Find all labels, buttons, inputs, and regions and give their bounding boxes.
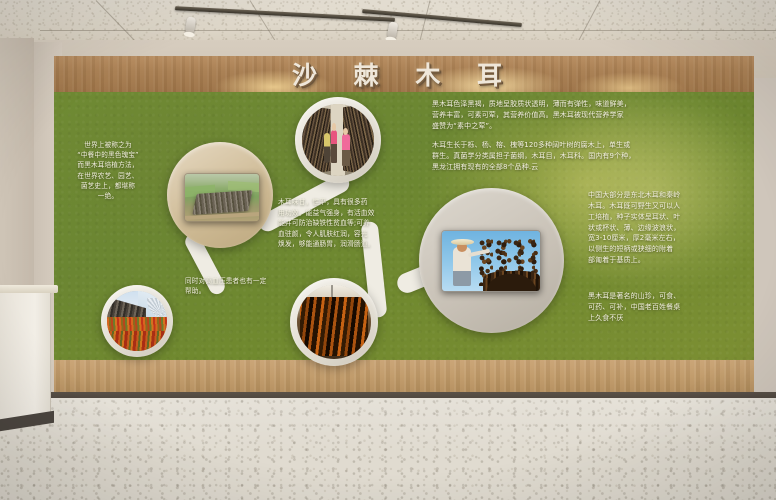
photo-frame-mushroom-house[interactable] xyxy=(295,97,381,183)
mushroom-house-image xyxy=(302,104,374,176)
photo-frame-wood-ear-logs[interactable] xyxy=(290,278,378,366)
text-block-left: 世界上被称之为 “中餐中的黑色瑰宝” 而黑木耳培植方法， 在世界农艺、园艺、 菌… xyxy=(60,140,156,201)
text-block-middle: 木耳味甘，性平，具有很多药 用功效。能益气强身，有活血效 能并可防治缺铁性贫血等… xyxy=(278,197,400,250)
text-block-bottom: 黑木耳是著名的山珍，可食、 可药、可补，中国老百姓餐桌 上久食不厌 xyxy=(588,291,716,324)
photo-farmer-harvest xyxy=(441,230,541,292)
text-block-top-secondary: 木耳生长于栎、杨、榕、槐等120多种阔叶树的腐木上，单生或 群生。真菌学分类属担… xyxy=(432,140,710,173)
floor xyxy=(0,398,776,500)
photo-mushroom-house xyxy=(302,104,374,176)
text-block-top-primary: 黑木耳色泽黑褐，质地呈胶质状透明，薄而有弹性，味道鲜美， 营养丰富，可素可荤，其… xyxy=(432,99,710,132)
photo-wood-ear-logs xyxy=(297,285,371,359)
text-block-right: 中国大部分是东北木耳和秦岭 木耳。木耳既可野生又可以人 工培植，种子实体呈耳状、… xyxy=(588,190,710,266)
photo-frame-farmer-harvest[interactable] xyxy=(419,188,564,333)
wall-wood-wainscot xyxy=(54,360,754,396)
wood-ear-logs-image xyxy=(297,285,371,359)
photo-frame-aerial-farm[interactable] xyxy=(167,142,273,248)
photo-frame-berry-field[interactable] xyxy=(101,285,173,357)
aerial-farm-image xyxy=(185,174,259,221)
text-block-helper: 同时对高血压患者也有一定 帮助。 xyxy=(185,276,285,296)
photo-aerial-farm xyxy=(184,173,260,222)
reception-counter xyxy=(0,291,51,421)
photo-berry-field xyxy=(107,291,167,351)
ceiling-seam xyxy=(40,30,776,31)
counter-top xyxy=(0,285,58,293)
farmer-harvest-image xyxy=(442,231,540,291)
exhibition-wall-render: 沙 棘 木 耳 xyxy=(0,0,776,500)
berry-field-image xyxy=(107,291,167,351)
